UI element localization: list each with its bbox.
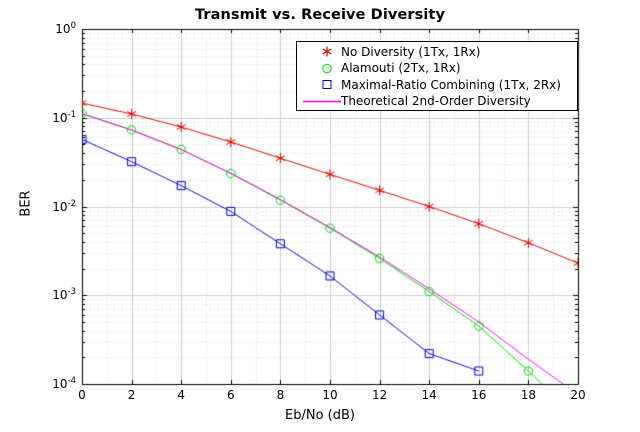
chart-legend: No Diversity (1Tx, 1Rx)Alamouti (2Tx, 1R… xyxy=(296,41,578,111)
line-icon xyxy=(297,93,341,110)
legend-item: Maximal-Ratio Combining (1Tx, 2Rx) xyxy=(297,76,577,93)
asterisk-icon xyxy=(297,43,341,60)
legend-label: Theoretical 2nd-Order Diversity xyxy=(341,94,531,108)
legend-label: No Diversity (1Tx, 1Rx) xyxy=(341,45,480,59)
legend-item: No Diversity (1Tx, 1Rx) xyxy=(297,43,577,60)
circle-icon xyxy=(297,60,341,77)
legend-label: Alamouti (2Tx, 1Rx) xyxy=(341,61,461,75)
legend-item: Theoretical 2nd-Order Diversity xyxy=(297,93,577,110)
legend-label: Maximal-Ratio Combining (1Tx, 2Rx) xyxy=(341,78,561,92)
chart-figure: Transmit vs. Receive Diversity Eb/No (dB… xyxy=(0,0,640,432)
square-icon xyxy=(297,76,341,93)
legend-item: Alamouti (2Tx, 1Rx) xyxy=(297,60,577,77)
